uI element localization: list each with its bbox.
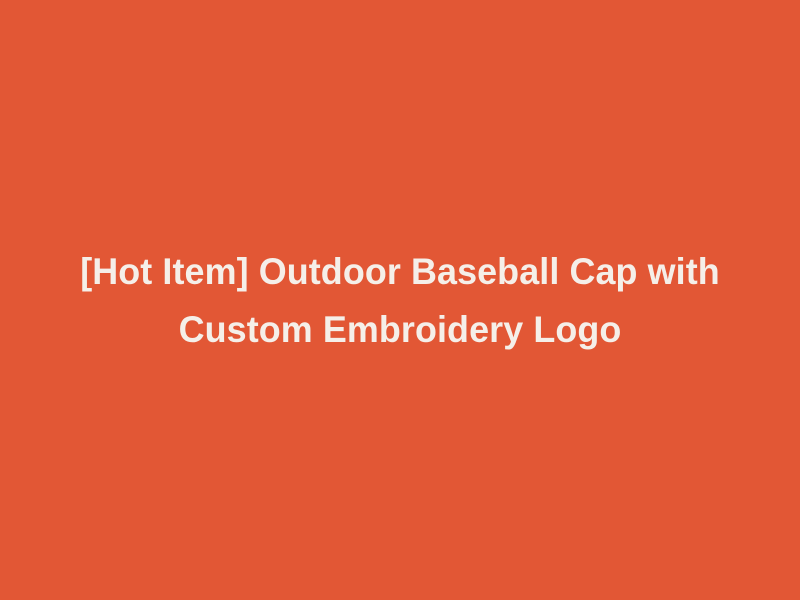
product-title-block: [Hot Item] Outdoor Baseball Cap with Cus… <box>40 243 760 359</box>
product-title-line-2: Custom Embroidery Logo <box>61 301 740 359</box>
product-title-line-1: [Hot Item] Outdoor Baseball Cap with <box>61 243 740 301</box>
image-placeholder-canvas: [Hot Item] Outdoor Baseball Cap with Cus… <box>0 0 800 600</box>
